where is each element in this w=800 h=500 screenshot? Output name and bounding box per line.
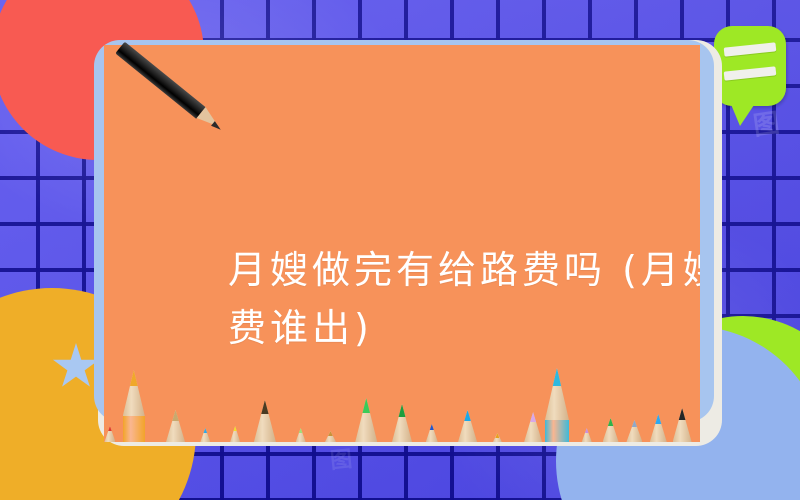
pencil-wood-cone [104, 426, 115, 442]
pencil-wood-cone [166, 410, 185, 442]
pencil-lead-tip [362, 398, 371, 413]
pencil-wood-cone [626, 420, 642, 442]
pencil-wood-cone [355, 398, 377, 442]
speech-bubble-line [724, 42, 777, 56]
pencil-wood-cone [458, 410, 477, 442]
page-title: 月嫂做完有给路费吗 (月嫂路费谁出) [228, 241, 700, 357]
pencil-wood-cone [123, 370, 145, 416]
pencil-lead-tip [552, 368, 562, 386]
pencil-wood-cone [200, 428, 210, 442]
pencil-wood-cone [673, 408, 692, 442]
pencil-wood-cone [650, 414, 667, 442]
speech-bubble-line [724, 66, 777, 80]
pencil-lead-tip [260, 400, 269, 414]
pencil-lead-tip [585, 428, 589, 433]
pencil-lead-tip [107, 426, 112, 431]
pencil-lead-tip [328, 431, 333, 436]
pencil-lead-tip [678, 408, 686, 420]
pencil-lead-tip [233, 426, 237, 431]
pencil-lead-tip [529, 412, 537, 422]
pencil-barrel [123, 416, 145, 442]
pencil-lead-tip [495, 433, 499, 438]
colored-pencil-row [104, 368, 700, 442]
pencil-wood-cone [296, 428, 306, 442]
pencil-lead-tip [299, 428, 303, 433]
green-speech-bubble-icon [714, 26, 786, 106]
pencil-lead-tip [607, 418, 614, 426]
pencil-lead-tip [129, 370, 138, 386]
pencil-lead-tip [203, 428, 207, 433]
pencil-wood-cone [545, 368, 569, 420]
pencil-lead-tip [631, 420, 638, 427]
pencil-wood-cone [392, 404, 412, 442]
pencil-lead-tip [398, 404, 406, 417]
pencil-barrel [545, 420, 569, 442]
pencil-wood-cone [254, 400, 276, 442]
pencil-wood-cone [524, 412, 542, 442]
pencil-wood-cone [230, 426, 240, 442]
pencil-wood-cone [493, 433, 502, 442]
pencil-wood-cone [325, 431, 336, 442]
pencil-wood-cone [426, 424, 438, 442]
pencil-wood-cone [603, 418, 619, 442]
pencil-lead-tip [655, 414, 662, 424]
pencil-lead-tip [172, 410, 180, 421]
pencil-lead-tip [429, 424, 434, 430]
pencil-wood-cone [582, 428, 592, 442]
poster-canvas: 图 网 图 月嫂做完有给路费吗 (月嫂路费谁出) [0, 0, 800, 500]
pencil-lead-tip [464, 410, 472, 421]
